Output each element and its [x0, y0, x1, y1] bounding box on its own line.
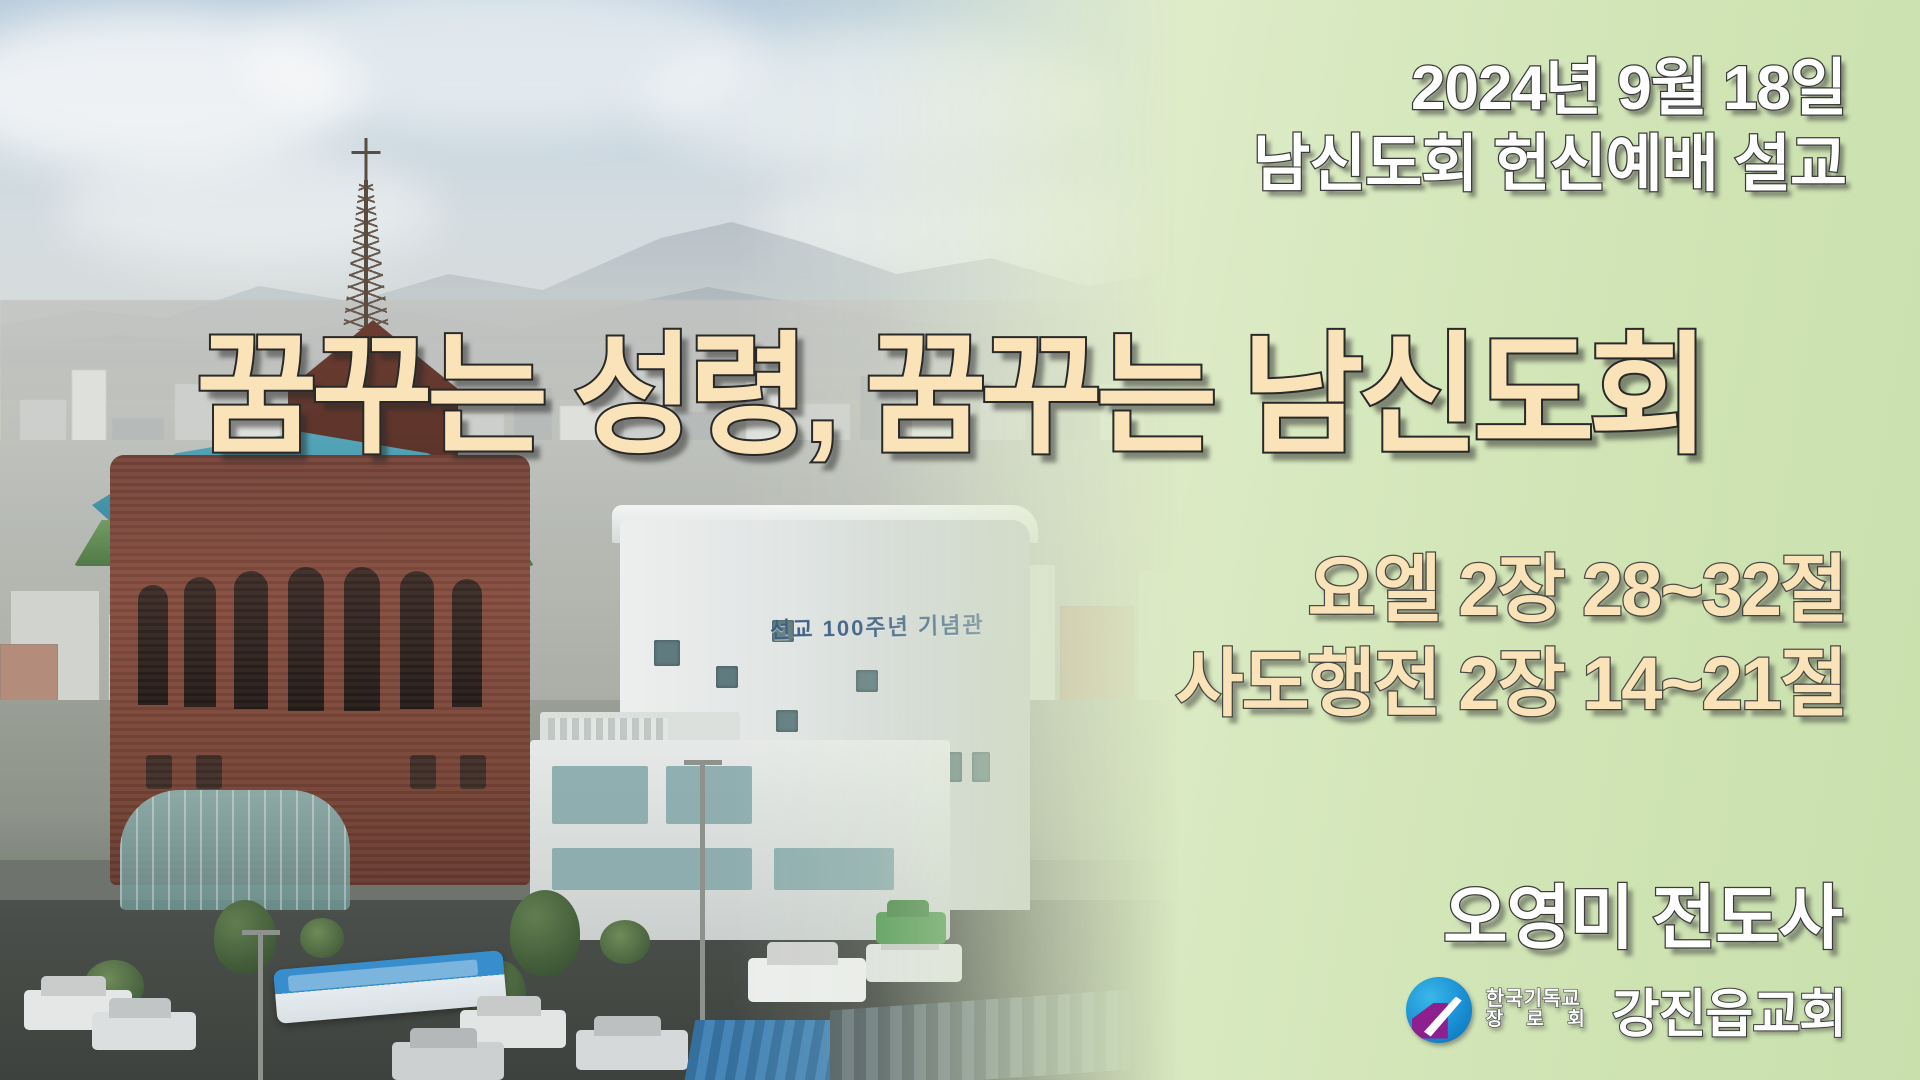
church-logo-mark-icon — [1406, 977, 1472, 1043]
scripture-block: 요엘 2장 28~32절 사도행전 2장 14~21절 — [1175, 550, 1846, 724]
denomination-line-1: 한국기독교 — [1486, 989, 1594, 1010]
preacher-name: 오영미 전도사 — [1443, 862, 1842, 963]
scripture-reference-2: 사도행전 2장 14~21절 — [1175, 644, 1846, 724]
sermon-title-slide: 선교 100주년 기념관 — [0, 0, 1920, 1080]
text-overlay: 2024년 9월 18일 남신도회 헌신예배 설교 꿈꾸는 성령, 꿈꾸는 남신… — [0, 0, 1920, 1080]
heading-block: 2024년 9월 18일 남신도회 헌신예배 설교 — [1253, 55, 1846, 199]
denomination-line-2: 장 로 회 — [1486, 1010, 1594, 1030]
scripture-reference-1: 요엘 2장 28~32절 — [1175, 550, 1846, 630]
service-date: 2024년 9월 18일 — [1253, 55, 1846, 123]
denomination-text: 한국기독교 장 로 회 — [1486, 989, 1594, 1030]
church-logo-lockup: 한국기독교 장 로 회 강진읍교회 — [1406, 972, 1846, 1047]
church-name: 강진읍교회 — [1612, 972, 1846, 1047]
sermon-title: 꿈꾸는 성령, 꿈꾸는 남신도회 — [196, 330, 1704, 462]
service-name: 남신도회 헌신예배 설교 — [1253, 131, 1846, 199]
